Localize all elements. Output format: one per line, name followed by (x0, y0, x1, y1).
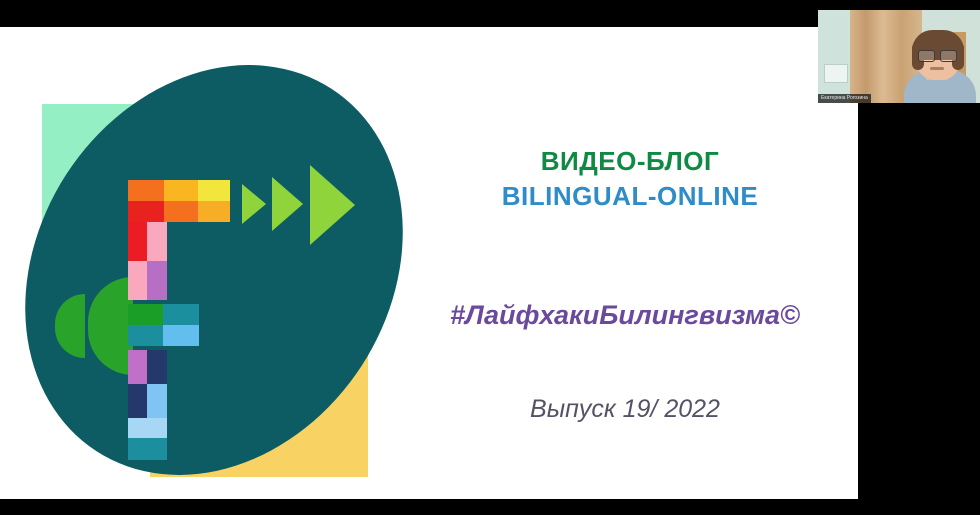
pixel-block (147, 261, 167, 300)
pixel-block (163, 304, 199, 325)
slide-hashtag: #ЛайфхакиБилингвизма© (390, 300, 858, 331)
webcam-wall-left (818, 10, 850, 103)
pixel-block (198, 180, 230, 201)
pixel-block (128, 438, 147, 460)
chevron-arrow-medium-icon (272, 177, 303, 231)
chevron-arrow-large-icon (310, 165, 355, 245)
slide-title-line-2: BILINGUAL-ONLINE (430, 178, 830, 214)
pixel-block (147, 350, 167, 384)
speaker-video-thumbnail[interactable]: Екатерина Рогозина (818, 10, 980, 103)
slide-issue-number: Выпуск 19/ 2022 (430, 395, 820, 424)
pixel-block (128, 201, 164, 222)
shared-slide[interactable]: ВИДЕО-БЛОГ BILINGUAL-ONLINE #ЛайфхакиБил… (0, 27, 858, 499)
speaker-mouth (930, 67, 944, 70)
pixel-block (128, 325, 163, 346)
pixel-block (128, 304, 163, 325)
pixel-block (147, 438, 167, 460)
speaker-glasses-right-lens (940, 50, 957, 62)
video-call-screen: ВИДЕО-БЛОГ BILINGUAL-ONLINE #ЛайфхакиБил… (0, 0, 980, 515)
bilingual-online-logo (10, 32, 410, 494)
pixel-block (128, 180, 164, 201)
pixel-block (198, 201, 230, 222)
speaker-glasses-left-lens (918, 50, 935, 62)
pixel-block (147, 384, 167, 418)
participant-name-label: Екатерина Рогозина (818, 94, 871, 103)
pixel-block (164, 180, 198, 201)
slide-title: ВИДЕО-БЛОГ BILINGUAL-ONLINE (430, 145, 830, 214)
pixel-block (164, 201, 198, 222)
pixel-block (128, 384, 147, 418)
teal-ellipse-shape (0, 27, 479, 499)
pixel-block (128, 350, 147, 384)
pixel-block (128, 418, 147, 438)
slide-title-line-1: ВИДЕО-БЛОГ (430, 145, 830, 178)
pixel-block (128, 222, 147, 261)
webcam-wall-picture (824, 64, 848, 83)
pixel-block (128, 261, 147, 300)
pixel-block (147, 418, 167, 438)
chevron-arrow-small-icon (242, 184, 266, 224)
pixel-block (163, 325, 199, 346)
pixel-block (147, 222, 167, 261)
